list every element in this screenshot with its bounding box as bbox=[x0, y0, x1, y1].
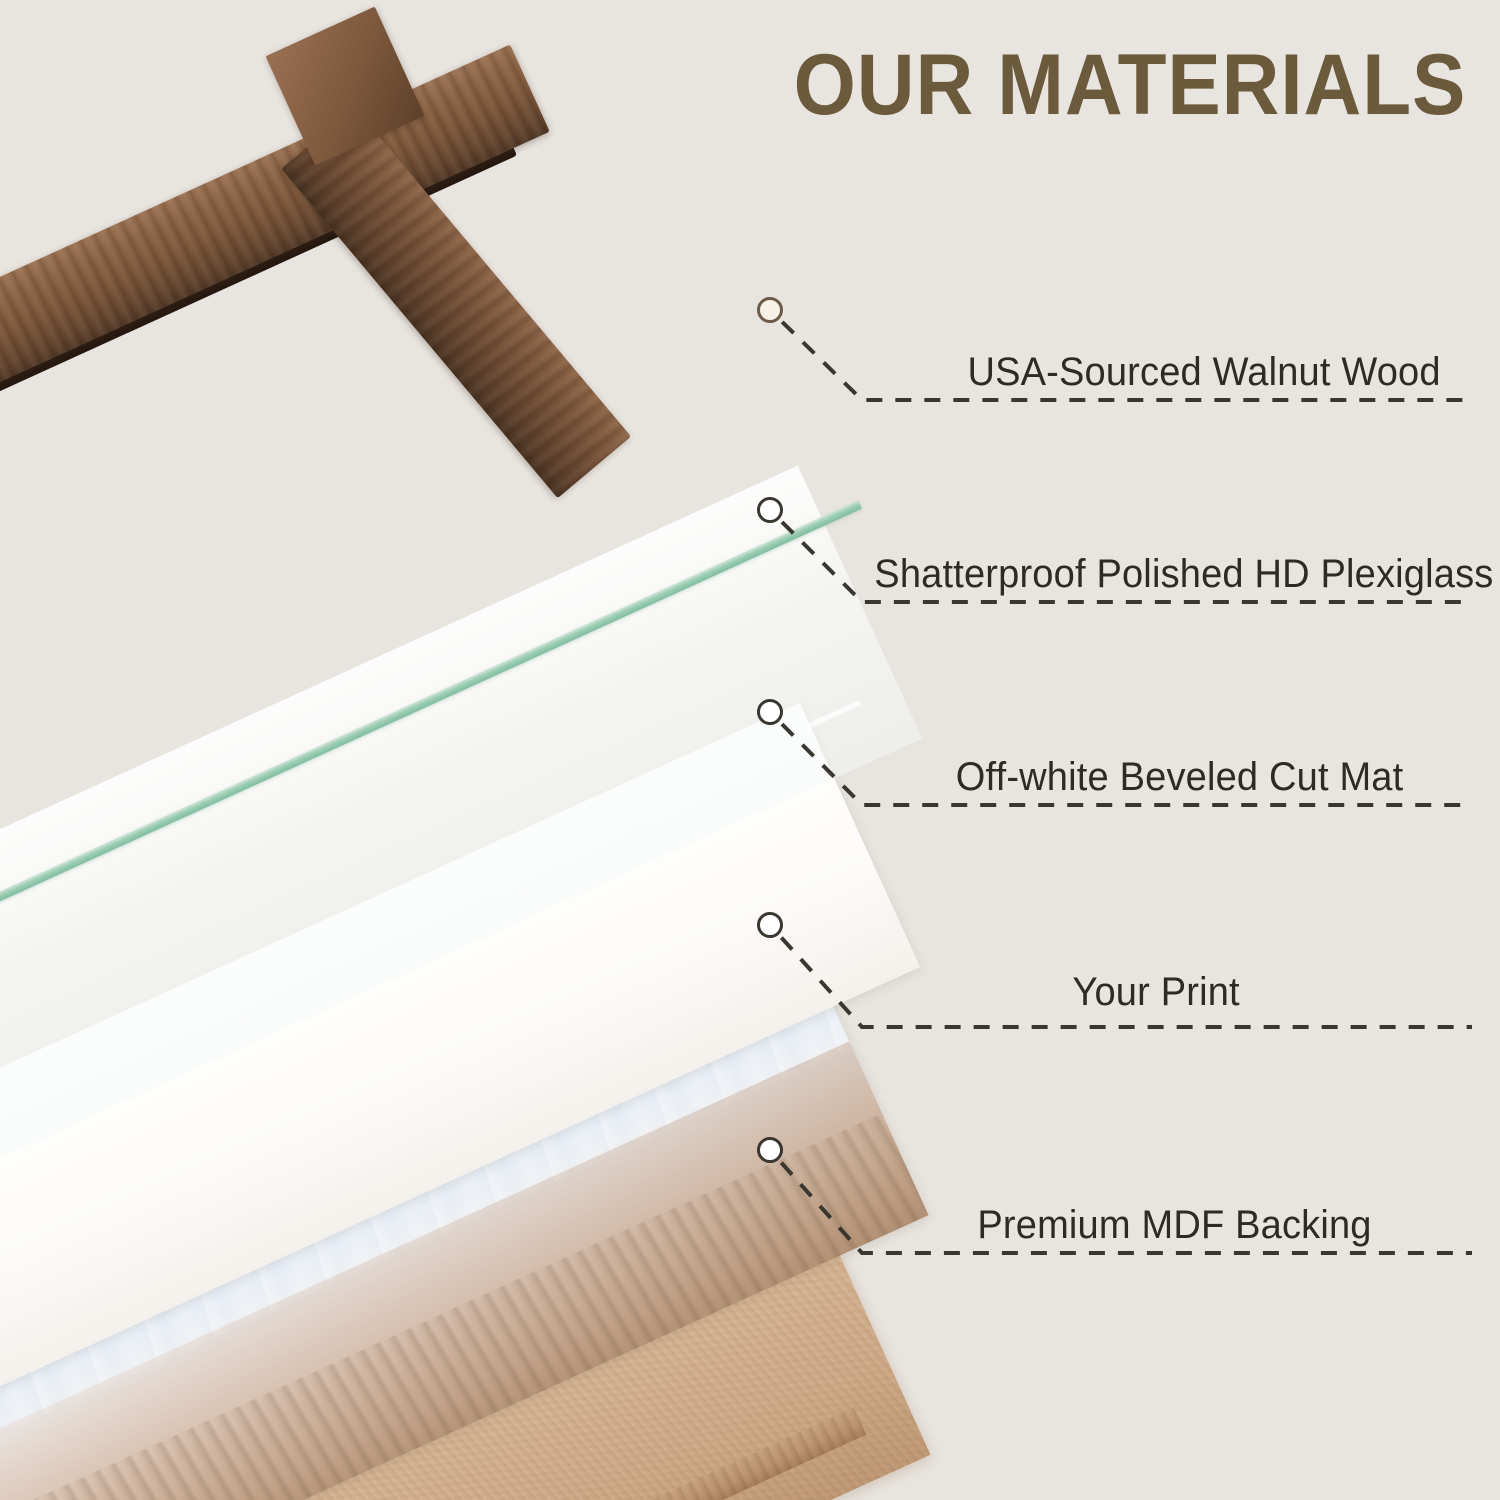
walnut-frame-layer bbox=[0, 0, 870, 510]
callout-label-your-print: Your Print bbox=[1073, 970, 1240, 1015]
page-title: OUR MATERIALS bbox=[793, 42, 1466, 128]
materials-infographic: OUR MATERIALS USA-Sourced Walnut Wood Sh… bbox=[0, 0, 1500, 1500]
callout-dot-walnut-wood[interactable] bbox=[757, 297, 783, 323]
callout-label-mdf-backing: Premium MDF Backing bbox=[977, 1203, 1371, 1248]
callout-label-walnut-wood: USA-Sourced Walnut Wood bbox=[968, 350, 1441, 395]
callout-dot-your-print[interactable] bbox=[757, 912, 783, 938]
callout-dot-plexiglass[interactable] bbox=[757, 497, 783, 523]
callout-dot-mdf-backing[interactable] bbox=[757, 1137, 783, 1163]
callout-label-cut-mat: Off-white Beveled Cut Mat bbox=[956, 755, 1404, 800]
callout-label-plexiglass: Shatterproof Polished HD Plexiglass bbox=[875, 552, 1494, 597]
callout-dot-cut-mat[interactable] bbox=[757, 699, 783, 725]
